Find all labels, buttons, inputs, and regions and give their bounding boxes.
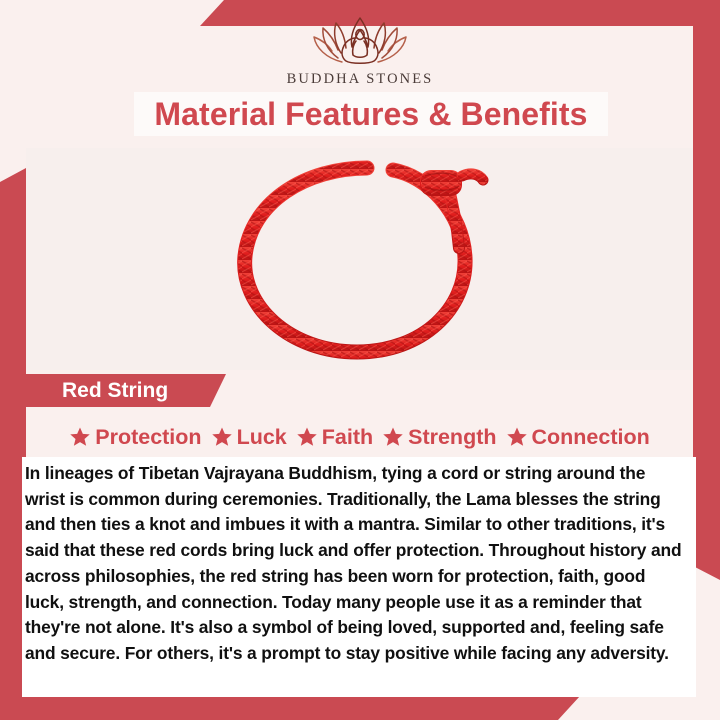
star-icon [506,426,528,448]
feature-item-faith: Faith [296,425,373,450]
product-image-panel [26,148,693,370]
product-info-poster: BUDDHA STONES Material Features & Benefi… [0,0,720,720]
feature-list: Protection Luck Faith Strength Connectio [26,419,693,455]
star-icon [69,426,91,448]
lotus-meditation-logo-icon [308,12,412,68]
page-title-banner: Material Features & Benefits [134,92,608,136]
feature-item-protection: Protection [69,425,201,450]
adjustable-knot [420,170,462,196]
star-icon [382,426,404,448]
feature-item-connection: Connection [506,425,650,450]
feature-label: Luck [237,425,287,450]
decorative-band-bottom [0,696,580,720]
feature-label: Strength [408,425,496,450]
feature-item-luck: Luck [211,425,287,450]
description-text: In lineages of Tibetan Vajrayana Buddhis… [25,461,688,667]
product-name-ribbon: Red String [26,374,226,407]
product-name: Red String [62,379,168,403]
feature-label: Protection [95,425,201,450]
description-panel: In lineages of Tibetan Vajrayana Buddhis… [22,457,696,697]
star-icon [296,426,318,448]
star-icon [211,426,233,448]
feature-label: Faith [322,425,373,450]
brand-name: BUDDHA STONES [287,71,434,88]
red-braided-string-bracelet-icon [215,156,505,366]
feature-item-strength: Strength [382,425,496,450]
feature-label: Connection [532,425,650,450]
page-title: Material Features & Benefits [154,96,587,133]
brand-logo: BUDDHA STONES [0,12,720,88]
poster-header: BUDDHA STONES Material Features & Benefi… [0,0,720,148]
